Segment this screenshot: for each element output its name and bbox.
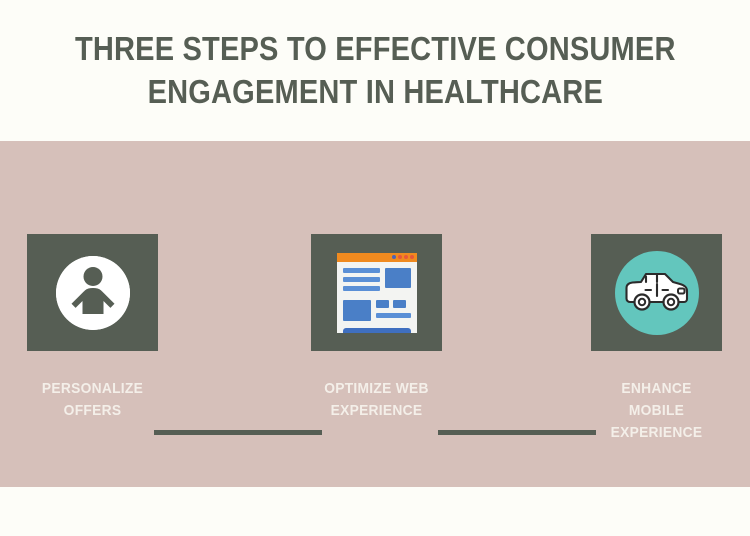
- browser-row-top: [343, 268, 411, 295]
- step-enhance-mobile-experience[interactable]: ENHANCE MOBILE EXPERIENCE: [591, 234, 722, 443]
- browser-small-block: [393, 300, 406, 308]
- browser-text-lines: [343, 268, 380, 295]
- step-optimize-web-experience[interactable]: OPTIMIZE WEB EXPERIENCE: [311, 234, 442, 422]
- step-personalize-offers[interactable]: PERSONALIZE OFFERS: [27, 234, 158, 422]
- step-1-icon-box: [27, 234, 158, 351]
- step-2-icon-box: [311, 234, 442, 351]
- browser-image-block: [385, 268, 411, 288]
- step-3-icon-box: [591, 234, 722, 351]
- page-title: THREE STEPS TO EFFECTIVE CONSUMER ENGAGE…: [57, 28, 693, 112]
- infographic-canvas: THREE STEPS TO EFFECTIVE CONSUMER ENGAGE…: [0, 0, 750, 536]
- browser-window-icon: [337, 253, 417, 333]
- car-icon: [615, 251, 699, 335]
- browser-small-block: [376, 300, 389, 308]
- browser-small-blocks: [376, 300, 411, 308]
- browser-text-line: [343, 268, 380, 273]
- browser-text-line: [343, 277, 380, 282]
- connector-line-2: [438, 430, 596, 435]
- header-band: THREE STEPS TO EFFECTIVE CONSUMER ENGAGE…: [0, 0, 750, 141]
- browser-text-line: [343, 286, 380, 291]
- browser-content: [337, 262, 417, 333]
- step-3-label: ENHANCE MOBILE EXPERIENCE: [596, 378, 717, 443]
- browser-dot-2: [398, 255, 402, 259]
- browser-dot-3: [404, 255, 408, 259]
- browser-dot-1: [392, 255, 396, 259]
- browser-footer-bar: [343, 328, 411, 333]
- browser-titlebar: [337, 253, 417, 262]
- browser-row-mid: [343, 300, 411, 321]
- browser-text-line: [376, 313, 411, 318]
- browser-dot-4: [410, 255, 414, 259]
- connector-line-1: [154, 430, 322, 435]
- browser-image-block: [343, 300, 371, 321]
- step-1-label: PERSONALIZE OFFERS: [32, 378, 153, 422]
- person-icon: [56, 256, 130, 330]
- step-2-label: OPTIMIZE WEB EXPERIENCE: [316, 378, 437, 422]
- browser-right-column: [376, 300, 411, 321]
- footer-band: [0, 487, 750, 536]
